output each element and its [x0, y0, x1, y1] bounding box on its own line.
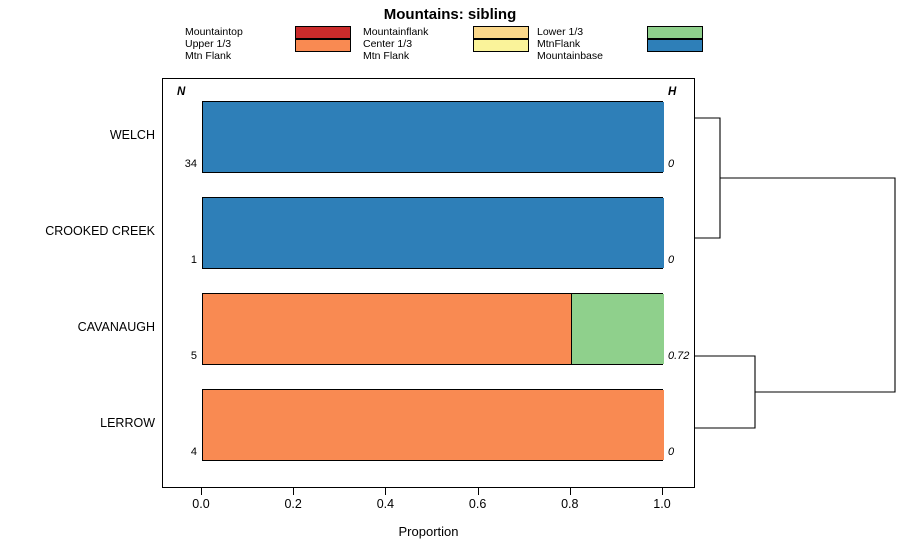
legend-column-1-labels: Mountaintop Upper 1/3 Mtn Flank — [185, 26, 243, 62]
stacked-bar — [202, 293, 663, 365]
legend-label-mountaintop: Mountaintop — [185, 26, 243, 38]
legend-label-center-third: Center 1/3 Mtn Flank — [363, 38, 428, 62]
bar-segment — [203, 390, 664, 460]
row-label: CROOKED CREEK — [45, 224, 155, 238]
x-tick-label: 0.4 — [365, 497, 405, 511]
bar-segment — [203, 198, 664, 268]
legend: Mountaintop Upper 1/3 Mtn Flank Mountain… — [185, 26, 715, 58]
legend-label-mountainflank: Mountainflank — [363, 26, 428, 38]
x-tick-label: 0.8 — [550, 497, 590, 511]
dendro-join-cavanaugh-lerrow — [695, 356, 755, 428]
bar-segment — [203, 102, 664, 172]
stacked-bar — [202, 101, 663, 173]
dendro-root-link — [720, 178, 895, 392]
x-tick-mark — [570, 488, 571, 495]
x-tick-mark — [201, 488, 202, 495]
bar-segment — [203, 294, 572, 364]
chart-title: Mountains: sibling — [0, 6, 900, 23]
plot-area — [162, 78, 695, 488]
x-tick-label: 0.0 — [181, 497, 221, 511]
x-tick-label: 0.2 — [273, 497, 313, 511]
legend-label-mountainbase: Mountainbase — [537, 50, 603, 62]
legend-swatch-upper-third — [295, 39, 351, 52]
dendro-join-welch-crookedcreek — [695, 118, 720, 238]
x-tick-mark — [293, 488, 294, 495]
legend-column-2-labels: Mountainflank Center 1/3 Mtn Flank — [363, 26, 428, 62]
legend-swatch-mountainbase — [647, 39, 703, 52]
bar-segment — [572, 294, 664, 364]
x-tick-label: 1.0 — [642, 497, 682, 511]
x-tick-mark — [662, 488, 663, 495]
legend-swatch-lower-third — [647, 26, 703, 39]
legend-swatch-mountainflank — [473, 26, 529, 39]
x-tick-mark — [478, 488, 479, 495]
x-tick-label: 0.6 — [458, 497, 498, 511]
row-label: WELCH — [110, 128, 155, 142]
legend-swatch-center-third — [473, 39, 529, 52]
stacked-bar — [202, 197, 663, 269]
dendrogram — [695, 78, 900, 488]
legend-column-3-labels: Lower 1/3 MtnFlank Mountainbase — [537, 26, 603, 62]
row-label: LERROW — [100, 416, 155, 430]
legend-swatch-mountaintop — [295, 26, 351, 39]
x-tick-mark — [385, 488, 386, 495]
stacked-bar — [202, 389, 663, 461]
x-axis-title: Proportion — [162, 524, 695, 539]
legend-label-lower-third: Lower 1/3 MtnFlank — [537, 26, 603, 50]
x-axis: 0.00.20.40.60.81.0 — [162, 488, 695, 518]
legend-label-upper-third: Upper 1/3 Mtn Flank — [185, 38, 243, 62]
row-label: CAVANAUGH — [78, 320, 155, 334]
